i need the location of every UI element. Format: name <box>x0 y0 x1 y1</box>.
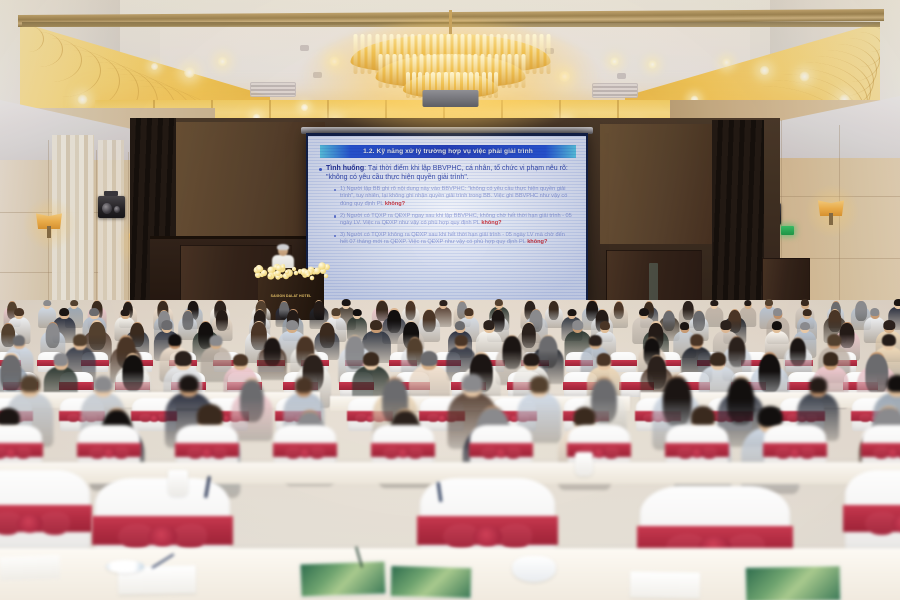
chandelier-flute <box>412 72 416 98</box>
presentation-slide: 1.2. Kỹ năng xử lý trường hợp vụ việc ph… <box>308 136 586 304</box>
audience-member-hair <box>122 355 143 391</box>
chandelier <box>343 28 558 106</box>
audience-member-hair <box>353 309 361 316</box>
audience-member-hair <box>421 351 438 366</box>
audience-member-hair <box>548 301 559 319</box>
ceiling-downlight <box>218 57 228 67</box>
sconce-arm <box>47 226 51 238</box>
podium-flower <box>275 270 281 276</box>
ceiling-speaker <box>617 73 626 79</box>
stage-curtain-right <box>712 120 764 330</box>
chandelier-flute <box>539 34 543 74</box>
chair-bow-knot <box>690 448 704 458</box>
audience-member-hair <box>599 321 609 330</box>
audience-member-hair <box>711 300 718 306</box>
audience-member-hair <box>800 322 810 331</box>
audience-member-hair <box>524 353 539 366</box>
chandelier-flute <box>546 34 550 74</box>
slide-title: 1.2. Kỹ năng xử lý trường hợp vụ việc ph… <box>363 148 533 155</box>
podium-flower <box>267 274 271 278</box>
audience-member-hair <box>90 308 100 317</box>
chair-bow-knot <box>494 448 508 458</box>
slide-highlight: không? <box>527 239 547 245</box>
conference-hall-photo: 1.2. Kỹ năng xử lý trường hợp vụ việc ph… <box>0 0 900 600</box>
audience-member-hair <box>264 338 281 366</box>
audience-member-hair <box>342 299 351 306</box>
audience-member-hair <box>405 301 416 320</box>
ceiling-downlight <box>610 57 619 66</box>
audience-member-hair <box>161 320 172 330</box>
audience-member-hair <box>313 301 324 320</box>
programme-brochure <box>745 565 842 600</box>
audience-member-hair <box>44 300 52 307</box>
water-cup <box>575 452 593 476</box>
audience-member-hair <box>483 320 494 330</box>
chair-bow-knot <box>102 448 116 458</box>
audience-member-hair <box>773 308 783 317</box>
ceiling-downlight <box>77 94 87 104</box>
chair-bow-knot <box>298 448 312 458</box>
audience-member-hair <box>790 338 806 366</box>
audience-member-hair <box>828 334 841 346</box>
banquet-chair <box>0 470 90 558</box>
chair-bow-knot <box>592 448 606 458</box>
slide-subbullet-text: 1) Người lập BB ghi rõ nội dung này vào … <box>340 186 567 206</box>
podium-flower <box>285 270 289 274</box>
audience-member-hair <box>680 322 690 331</box>
audience-member-hair <box>73 334 87 346</box>
ceiling-speaker <box>300 45 309 51</box>
podium-flower <box>281 264 285 268</box>
wall-sconce-right-2 <box>818 195 844 225</box>
podium-flower-arrangement <box>252 263 330 278</box>
audience-member-hair <box>286 320 298 330</box>
ceiling-downlight <box>301 104 308 111</box>
audience-member-hair <box>884 320 895 330</box>
audience-member-hair <box>801 299 809 306</box>
audience-member-hair <box>240 380 264 422</box>
chandelier-flute <box>385 54 389 88</box>
audience-member-hair <box>597 353 612 366</box>
audience-member-hair <box>14 308 24 317</box>
chandelier-flute <box>508 54 512 88</box>
audience-member-hair <box>13 335 25 346</box>
chair-bow-knot <box>148 526 178 547</box>
podium-flower <box>309 276 314 281</box>
document-sheet <box>630 571 700 598</box>
saucer-with-spoon <box>106 560 144 573</box>
programme-brochure <box>390 565 473 599</box>
audience-member-hair <box>710 352 726 366</box>
slide-bullet-level2: 3) Người có TQXP không ra QĐXP sau khi h… <box>340 232 574 246</box>
slide-bullet-level2: 1) Người lập BB ghi rõ nội dung này vào … <box>340 186 574 208</box>
audience-member <box>258 337 286 383</box>
ceiling-downlight <box>760 66 770 76</box>
audience-member-hair <box>758 406 782 427</box>
ceiling-downlight <box>799 71 809 81</box>
podium-flower <box>324 274 328 278</box>
audience-member-hair <box>464 308 473 316</box>
stage-wall-panel <box>600 124 720 244</box>
chandelier-flute <box>494 72 498 98</box>
chair-bow-wing <box>38 512 69 535</box>
slide-title-bar: 1.2. Kỹ năng xử lý trường hợp vụ việc ph… <box>320 145 576 158</box>
chair-bow-knot <box>149 415 159 422</box>
audience-member-hair <box>295 377 312 392</box>
audience-member-hair <box>568 309 577 317</box>
slide-subbullet-text: 2) Người có TQXP ra QĐXP ngay sau khi lậ… <box>340 213 572 226</box>
speaker-tweeter <box>114 206 120 213</box>
ceiling-downlight <box>151 63 158 70</box>
chandelier-flute <box>399 54 403 88</box>
programme-brochure <box>299 561 386 598</box>
audience-member-hair <box>320 323 335 348</box>
audience-member-hair <box>70 300 78 307</box>
chandelier-flute <box>532 34 536 74</box>
audience-member-hair <box>771 321 781 330</box>
audience-member-hair <box>803 309 811 316</box>
audience-member-hair <box>495 299 503 306</box>
wall-speaker-left <box>98 196 125 218</box>
audience-member-hair <box>53 353 68 366</box>
chair-bow-knot <box>473 526 503 547</box>
audience-member-hair <box>45 323 60 348</box>
slide-bullet-level1: Tình huống: Tại thời điểm khi lập BBVPHC… <box>326 165 574 182</box>
banquet-chair <box>845 470 900 558</box>
audience-member-hair <box>870 308 880 316</box>
speaker-bracket <box>104 191 118 196</box>
audience-member-hair <box>178 375 198 393</box>
audience-member-hair <box>371 320 383 330</box>
slide-bullet-lead: Tình huống <box>326 165 364 172</box>
wall-sconce-left <box>36 208 62 238</box>
slide-highlight: không? <box>385 201 405 207</box>
audience-member-hair <box>691 406 715 427</box>
slide-bullet-level2: 2) Người có TQXP ra QĐXP ngay sau khi lậ… <box>340 213 574 227</box>
audience-member-hair <box>530 376 548 392</box>
audience-member-hair <box>589 335 601 346</box>
presenter-hair <box>277 244 289 250</box>
podium-nameplate: SAIGON DALAT HOTEL <box>264 292 318 299</box>
chair-bow-knot <box>4 448 18 458</box>
audience-member-hair <box>614 302 624 320</box>
chandelier-stem <box>449 10 452 36</box>
audience-member-hair <box>823 352 839 366</box>
chandelier-flute <box>482 72 486 98</box>
chandelier-flute <box>378 54 382 88</box>
small-bowl <box>512 556 556 582</box>
chair-bow-knot <box>886 448 900 458</box>
water-cup <box>168 470 188 496</box>
audience-member-hair <box>455 335 468 346</box>
chandelier-flute <box>488 72 492 98</box>
chandelier-flute <box>392 54 396 88</box>
audience-member-hair <box>894 299 900 306</box>
audience-member-hair <box>331 308 340 316</box>
stage-wall-panel <box>175 122 325 247</box>
audience-member-hair <box>462 374 483 392</box>
audience-member-hair <box>765 299 773 306</box>
ceiling-downlight <box>648 60 657 69</box>
audience-member-hair <box>20 375 40 392</box>
chair-bow-knot <box>200 448 214 458</box>
audience-member-hair <box>175 351 192 365</box>
chandelier-flute <box>501 54 505 88</box>
slide-highlight: không? <box>481 220 501 226</box>
chandelier-flute <box>525 34 529 74</box>
ac-vent <box>250 82 296 97</box>
audience-member-hair <box>93 376 112 392</box>
wall-seam <box>96 150 97 325</box>
ceiling-downlight <box>722 58 731 67</box>
speaker-cone <box>102 203 112 214</box>
audience-member-hair <box>455 321 465 330</box>
audience-member-hair <box>121 309 130 317</box>
audience-member-hair <box>881 334 895 346</box>
chandelier-flute <box>368 34 372 74</box>
document-sheet <box>0 555 60 581</box>
audience-member-hair <box>690 334 703 346</box>
chair-bow-knot <box>396 448 410 458</box>
audience-member-hair <box>363 352 379 366</box>
audience-member-hair <box>423 310 436 332</box>
exit-sign <box>781 226 794 235</box>
audience-member-hair <box>639 308 649 317</box>
audience-member-hair <box>887 375 900 393</box>
audience-member-hair <box>197 404 223 427</box>
podium-flower <box>256 265 262 271</box>
chair-bow-knot <box>437 415 447 422</box>
podium-flower <box>298 270 302 274</box>
chandelier-flute <box>515 54 519 88</box>
audience-member-hair <box>440 300 447 306</box>
projection-screen: 1.2. Kỹ năng xử lý trường hợp vụ việc ph… <box>306 133 588 306</box>
audience-member-hair <box>720 320 731 330</box>
ceiling-downlight <box>184 67 195 78</box>
chandelier-flute <box>361 34 365 74</box>
audience-member-hair <box>572 320 583 330</box>
chandelier-flute <box>406 72 410 98</box>
audience-member-hair <box>168 334 181 345</box>
ceiling-projector <box>422 90 478 107</box>
audience-member-hair <box>809 377 827 392</box>
audience-member-hair <box>233 354 247 366</box>
chair-bow-knot <box>788 448 802 458</box>
chandelier-flute <box>522 54 526 88</box>
chandelier-flute <box>354 34 358 74</box>
sconce-arm <box>829 213 833 225</box>
audience-member-hair <box>209 335 222 346</box>
audience-member-hair <box>59 308 69 316</box>
